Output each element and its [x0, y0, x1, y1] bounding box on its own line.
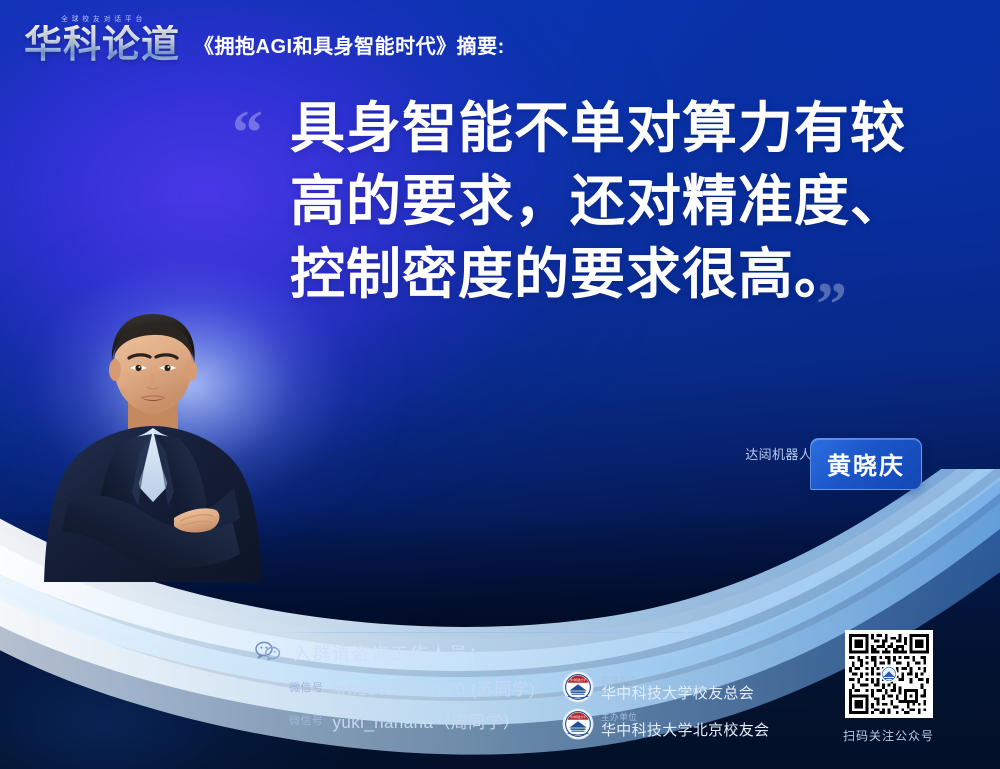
wechat-icon [255, 641, 281, 666]
quote-line: 控制密度的要求很高。 [290, 238, 952, 311]
svg-text:华中科技大学: 华中科技大学 [570, 715, 586, 719]
speaker-name: 黄晓庆 [827, 453, 905, 480]
organization-kind: 主办单位 [601, 713, 769, 722]
header: 全球校友对话平台 华科论道 《拥抱AGI和具身智能时代》摘要: [24, 14, 505, 63]
footer-heading: 入群请咨询工作人员： [293, 640, 488, 666]
organization-name: 华中科技大学校友总会 [601, 686, 754, 703]
organization-texts: 指导单位 华中科技大学校友总会 [601, 676, 754, 703]
page-title: 《拥抱AGI和具身智能时代》摘要: [194, 30, 505, 63]
organization-name: 华中科技大学北京校友会 [601, 723, 769, 740]
quote-lines: 具身智能不单对算力有较 高的要求，还对精准度、 控制密度的要求很高。 [290, 92, 952, 311]
contact-label: 微信号 [289, 679, 324, 695]
footer-heading-row: 入群请咨询工作人员： [255, 640, 815, 666]
quote-line: 具身智能不单对算力有较 [290, 92, 952, 165]
speaker-portrait [28, 292, 278, 582]
quote-open-mark: “ [232, 102, 263, 164]
quote-block: “ 具身智能不单对算力有较 高的要求，还对精准度、 控制密度的要求很高。 ” [232, 92, 952, 311]
hust-seal-icon: 华中科技大学 [562, 708, 594, 745]
svg-text:华中科技大学: 华中科技大学 [570, 678, 586, 682]
contact-label: 微信号 [289, 712, 324, 728]
contact-value[interactable]: yuki_hahaha（周同学） [333, 708, 521, 733]
organizations: 华中科技大学 指导单位 华中科技大学校友总会 华中科技大学 [562, 672, 769, 746]
brand-logo[interactable]: 全球校友对话平台 华科论道 [24, 14, 180, 63]
quote-line: 高的要求，还对精准度、 [290, 165, 952, 238]
organization-kind: 指导单位 [601, 676, 754, 685]
footer-divider [285, 632, 793, 633]
qr-code-icon[interactable] [845, 630, 933, 718]
quote-close-mark: ” [816, 274, 847, 336]
qr-caption: 扫码关注公众号 [843, 727, 934, 744]
brand-logo-text: 华科论道 [24, 25, 180, 63]
contact-value[interactable]: srh15029033920 (苏同学) [333, 675, 536, 700]
organization-row: 华中科技大学 主办单位 华中科技大学北京校友会 [562, 709, 769, 743]
hust-seal-icon: 华中科技大学 [562, 671, 594, 708]
brand-tagline: 全球校友对话平台 [58, 14, 147, 24]
speaker-name-badge: 黄晓庆 [810, 438, 922, 490]
qr-section: 扫码关注公众号 [843, 630, 934, 744]
organization-texts: 主办单位 华中科技大学北京校友会 [601, 713, 769, 740]
organization-row: 华中科技大学 指导单位 华中科技大学校友总会 [562, 672, 769, 706]
poster-root: 全球校友对话平台 华科论道 《拥抱AGI和具身智能时代》摘要: “ 具身智能不单… [0, 0, 1000, 769]
